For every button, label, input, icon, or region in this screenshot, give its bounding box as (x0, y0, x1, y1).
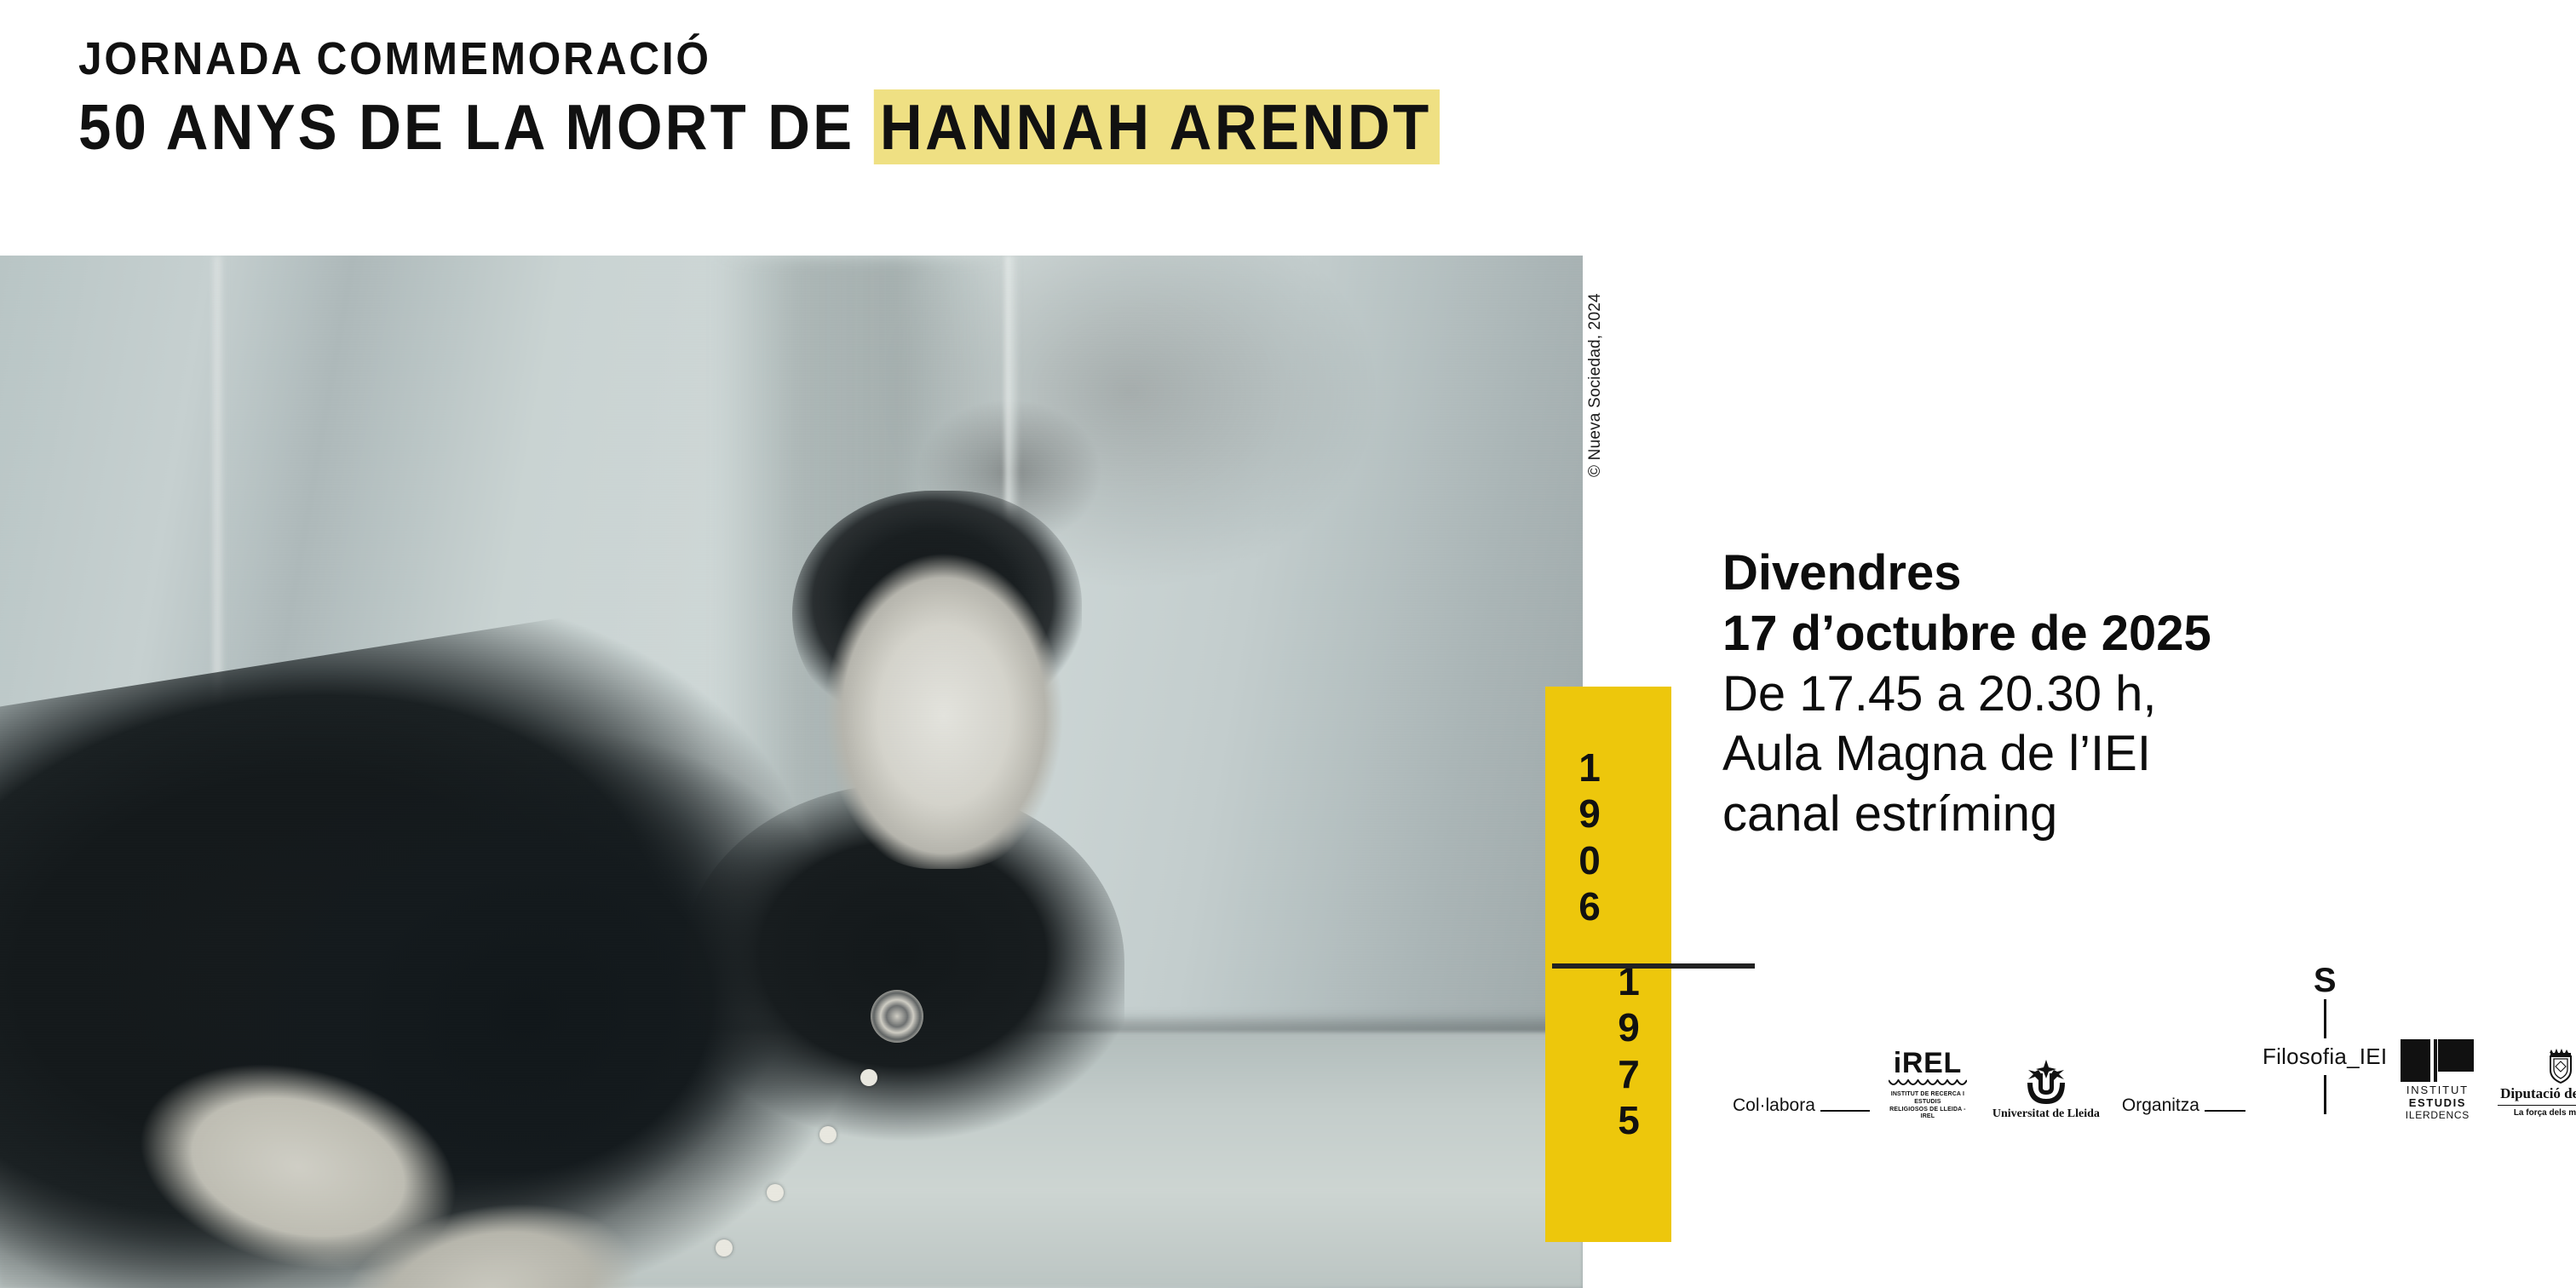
diputacio-crest-icon (2544, 1048, 2576, 1084)
irel-logo: iREL INSTITUT DE RECERCA I ESTUDIS RELIG… (1889, 1049, 1967, 1126)
iei-block-left (2401, 1039, 2430, 1082)
event-details: Divendres 17 d’octubre de 2025 De 17.45 … (1722, 543, 2489, 845)
death-year: 1 9 7 5 (1618, 958, 1640, 1143)
death-digit: 5 (1618, 1097, 1640, 1143)
birth-digit: 6 (1578, 883, 1601, 929)
birth-digit: 9 (1578, 791, 1601, 837)
label-rule (2205, 1110, 2245, 1112)
filosofia-divider (2324, 999, 2326, 1038)
event-time: De 17.45 a 20.30 h, (1722, 664, 2489, 725)
udl-logo: Universitat de Lleida (1992, 1060, 2100, 1126)
portrait-photo (0, 256, 1583, 1288)
headline-line-2: 50 ANYS DE LA MORT DE HANNAH ARENDT (78, 95, 1724, 159)
years-separator-rule (1552, 963, 1755, 969)
diputacio-logo: Diputació de Lleida La força dels munici… (2498, 1048, 2576, 1127)
iei-line-3: ILERDENCS (2406, 1109, 2470, 1121)
filosofia-s-mark: S (2314, 967, 2337, 994)
iei-block-right (2438, 1039, 2474, 1072)
death-digit: 7 (1618, 1051, 1640, 1097)
birth-year: 1 9 0 6 (1578, 745, 1601, 929)
poster-canvas: JORNADA COMMEMORACIÓ 50 ANYS DE LA MORT … (0, 0, 2576, 1288)
photo-grain (0, 256, 1583, 1288)
headline-line-1: JORNADA COMMEMORACIÓ (78, 36, 1724, 82)
iei-line-1: INSTITUT (2406, 1084, 2469, 1096)
event-date: 17 d’octubre de 2025 (1722, 604, 2489, 664)
irel-subtitle-2: RELIGIOSOS DE LLEIDA - IREL (1889, 1107, 1967, 1122)
irel-wave-icon (1889, 1079, 1967, 1089)
irel-subtitle-1: INSTITUT DE RECERCA I ESTUDIS (1889, 1091, 1967, 1107)
filosofia-text: Filosofia_IEI (2263, 1044, 2387, 1070)
diputacio-name: Diputació de Lleida (2500, 1085, 2576, 1102)
iei-blocks-icon (2401, 1039, 2474, 1082)
organitza-label: Organitza (2122, 1095, 2199, 1116)
event-venue: Aula Magna de l’IEI (1722, 724, 2489, 785)
iei-block-stem (2434, 1039, 2437, 1082)
event-day: Divendres (1722, 543, 2489, 604)
label-rule (1820, 1110, 1870, 1112)
collabora-label-group: Col·labora (1733, 1095, 1870, 1126)
photo-credit: © Nueva Sociedad, 2024 (1586, 293, 1605, 477)
udl-emblem-icon (2016, 1060, 2076, 1104)
birth-digit: 1 (1578, 745, 1601, 791)
diputacio-rule (2498, 1105, 2576, 1107)
filosofia-iei-logo: S Filosofia_IEI (2263, 967, 2387, 1126)
logo-strip: Col·labora iREL INSTITUT DE RECERCA I ES… (1733, 1015, 2542, 1126)
diputacio-tagline: La força dels municipis (2514, 1108, 2576, 1118)
filosofia-divider (2324, 1075, 2326, 1114)
birth-digit: 0 (1578, 837, 1601, 883)
irel-wordmark: iREL (1894, 1049, 1962, 1078)
collabora-label: Col·labora (1733, 1095, 1815, 1116)
iei-logo: INSTITUT ESTUDIS ILERDENCS (2401, 1039, 2474, 1126)
headline-prefix: 50 ANYS DE LA MORT DE (78, 91, 873, 163)
death-digit: 9 (1618, 1004, 1640, 1050)
headline-block: JORNADA COMMEMORACIÓ 50 ANYS DE LA MORT … (78, 36, 1867, 159)
organitza-label-group: Organitza (2122, 1095, 2245, 1126)
headline-highlight: HANNAH ARENDT (873, 89, 1439, 164)
iei-line-2: ESTUDIS (2409, 1096, 2466, 1109)
udl-name: Universitat de Lleida (1992, 1107, 2100, 1121)
event-streaming: canal estríming (1722, 785, 2489, 845)
